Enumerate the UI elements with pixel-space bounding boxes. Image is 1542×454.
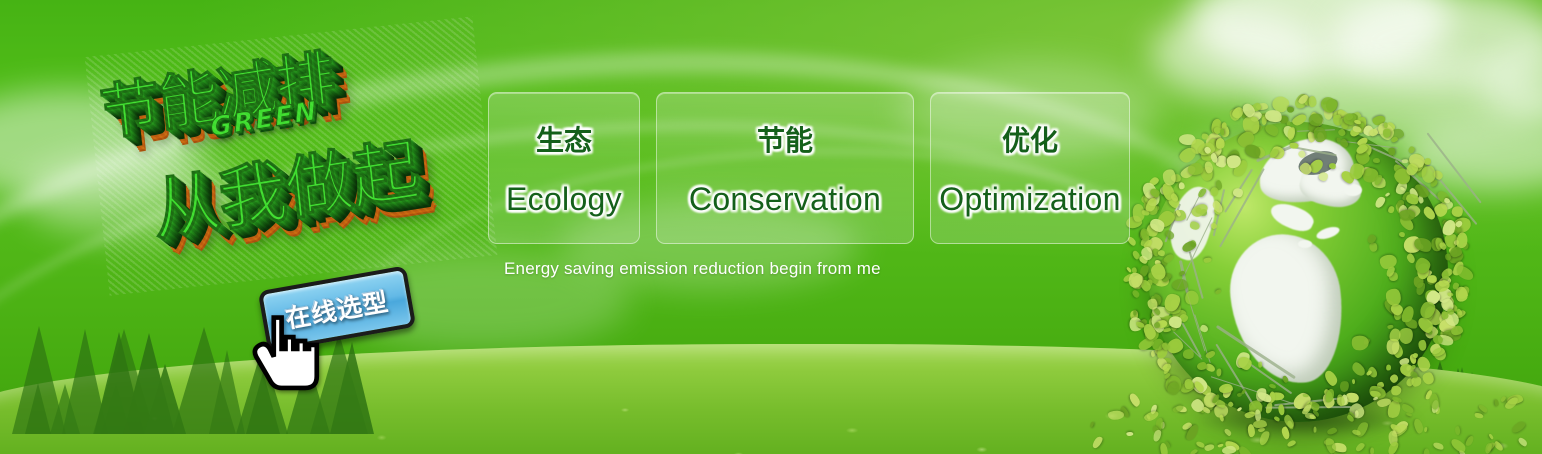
feature-card-cn-label: 生态 (536, 119, 592, 159)
fallen-leaf (1244, 411, 1255, 419)
globe-leaf (1390, 385, 1403, 397)
banner-tagline: Energy saving emission reduction begin f… (504, 259, 881, 279)
fallen-leaf (1400, 402, 1415, 415)
fallen-leaf (1247, 424, 1255, 437)
globe-leaf (1188, 162, 1204, 174)
continent-landmass (1344, 184, 1362, 196)
feature-card-en-label: Optimization (939, 181, 1120, 218)
eco-hero-banner: 节能减排 GREEN 从我做起 在线选型 生态 Ecology 节能 Conse… (0, 0, 1542, 454)
globe-leaf (1390, 137, 1398, 144)
fallen-leaf (1278, 404, 1285, 415)
globe-leaf (1454, 263, 1475, 282)
fallen-leaf (1236, 407, 1242, 412)
globe-leaf (1450, 325, 1463, 336)
continent-central-america (1267, 198, 1316, 236)
globe-leaf (1373, 158, 1380, 163)
globe-leaf (1182, 348, 1194, 359)
fallen-leaf (1221, 446, 1236, 454)
leafy-earth-globe (1148, 122, 1448, 422)
feature-card-ecology[interactable]: 生态 Ecology (488, 92, 640, 244)
cloud (1480, 40, 1542, 130)
feature-card-optimization[interactable]: 优化 Optimization (930, 92, 1130, 244)
globe-leaf (1415, 355, 1431, 373)
feature-card-cn-label: 节能 (757, 119, 813, 159)
continent-landmass (1315, 225, 1341, 242)
online-selection-cta[interactable]: 在线选型 (258, 265, 416, 352)
hero-title-3d: 节能减排 GREEN 从我做起 (85, 16, 498, 295)
globe-leaf (1220, 129, 1225, 136)
globe-leaf (1286, 106, 1294, 113)
continent-landmass (1298, 240, 1312, 248)
globe-leaf (1422, 372, 1434, 385)
fallen-leaf (1455, 426, 1460, 435)
fallen-leaf (1429, 393, 1439, 410)
cloud (1330, 0, 1542, 90)
fallen-leaf (1302, 393, 1308, 397)
cloud (1150, 10, 1320, 100)
fallen-leaf (1253, 419, 1267, 427)
feature-card-en-label: Conservation (689, 181, 881, 218)
globe-leaf (1257, 362, 1261, 368)
fallen-leaf (1370, 447, 1374, 454)
globe-leaf (1455, 287, 1468, 303)
globe-leaf (1309, 96, 1317, 108)
feature-card-group: 生态 Ecology 节能 Conservation 优化 Optimizati… (488, 92, 1130, 244)
feature-card-cn-label: 优化 (1002, 119, 1058, 159)
globe-leaf (1352, 378, 1355, 383)
globe-leaf (1368, 128, 1378, 137)
globe-leaf (1147, 298, 1157, 309)
fallen-leaf (1313, 427, 1317, 433)
feature-card-en-label: Ecology (506, 181, 622, 218)
fallen-leaf (1423, 449, 1430, 454)
feature-card-conservation[interactable]: 节能 Conservation (656, 92, 914, 244)
pointing-hand-cursor (247, 314, 323, 400)
cloud (1190, 0, 1450, 80)
globe-leaf (1132, 288, 1141, 298)
